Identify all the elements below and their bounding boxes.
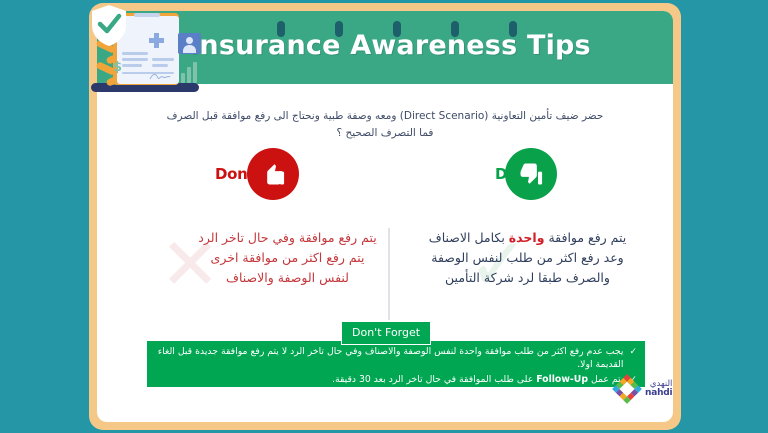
note-text-after: على طلب الموافقة في حال تاخر الرد بعد 30…: [332, 374, 536, 385]
note-text: يتم عمل Follow-Up على طلب الموافقة في حا…: [155, 373, 623, 386]
question-text: حضر ضيف تأمين التعاونية (Direct Scenario…: [120, 108, 650, 142]
dont-badge-label: Don't: [215, 165, 259, 183]
dont-line-3: لنفس الوصفة والاصناف: [160, 268, 415, 288]
insurance-document-illustration: [89, 3, 201, 98]
page-title: Insurance Awareness Tips: [130, 30, 650, 61]
dont-forget-tag: Don't Forget: [341, 321, 431, 345]
do-line-2: وعد رفع اكثر من طلب لنفس الوصفة: [400, 248, 655, 268]
dont-line-2: يتم رفع اكثر من موافقة اخرى: [160, 248, 415, 268]
do-line-3: والصرف طبقا لرد شركة التأمين: [400, 268, 655, 288]
answer-columns: يتم رفع موافقة وفي حال تاخر الرد يتم رفع…: [110, 228, 660, 320]
check-icon: ✓: [629, 345, 637, 359]
do-line-1-pre: يتم رفع موافقة: [544, 230, 626, 245]
do-line-1: يتم رفع موافقة واحدة بكامل الاصناف: [400, 228, 655, 248]
note-text: يجب عدم رفع اكثر من طلب موافقة واحدة لنف…: [155, 345, 623, 371]
do-badge: Do: [495, 148, 557, 200]
do-line-1-highlight: واحدة: [509, 230, 545, 245]
question-line-1: حضر ضيف تأمين التعاونية (Direct Scenario…: [120, 108, 650, 125]
nahdi-heart-icon: [612, 374, 642, 404]
bar-chart-icon: [181, 61, 199, 83]
note-item: ✓ يجب عدم رفع اكثر من طلب موافقة واحدة ل…: [155, 345, 637, 371]
nahdi-english-label: nahdi: [645, 389, 672, 398]
dont-line-1: يتم رفع موافقة وفي حال تاخر الرد: [160, 228, 415, 248]
nahdi-logo: النهدي nahdi: [612, 372, 674, 406]
note-text-english: Follow-Up: [536, 373, 588, 386]
clipboard-clip: [134, 13, 160, 17]
medical-cross-icon: [149, 38, 164, 43]
badges-row: Don't Do: [110, 148, 660, 212]
question-line-2: فما التصرف الصحيح ؟: [120, 125, 650, 142]
note-item: ✓ يتم عمل Follow-Up على طلب الموافقة في …: [155, 373, 637, 387]
shield-check-icon: [89, 3, 129, 47]
do-column: يتم رفع موافقة واحدة بكامل الاصناف وعد ر…: [400, 228, 655, 288]
notes-box: ✓ يجب عدم رفع اكثر من طلب موافقة واحدة ل…: [146, 340, 646, 388]
dont-badge: Don't: [215, 148, 299, 200]
person-photo-icon: [178, 33, 201, 54]
dollar-icon: $: [113, 60, 122, 75]
dont-column: يتم رفع موافقة وفي حال تاخر الرد يتم رفع…: [160, 228, 415, 288]
do-badge-label: Do: [495, 165, 517, 183]
signature-icon: [149, 72, 171, 81]
nahdi-wordmark: النهدي nahdi: [645, 380, 672, 398]
do-line-1-post: بكامل الاصناف: [429, 230, 509, 245]
